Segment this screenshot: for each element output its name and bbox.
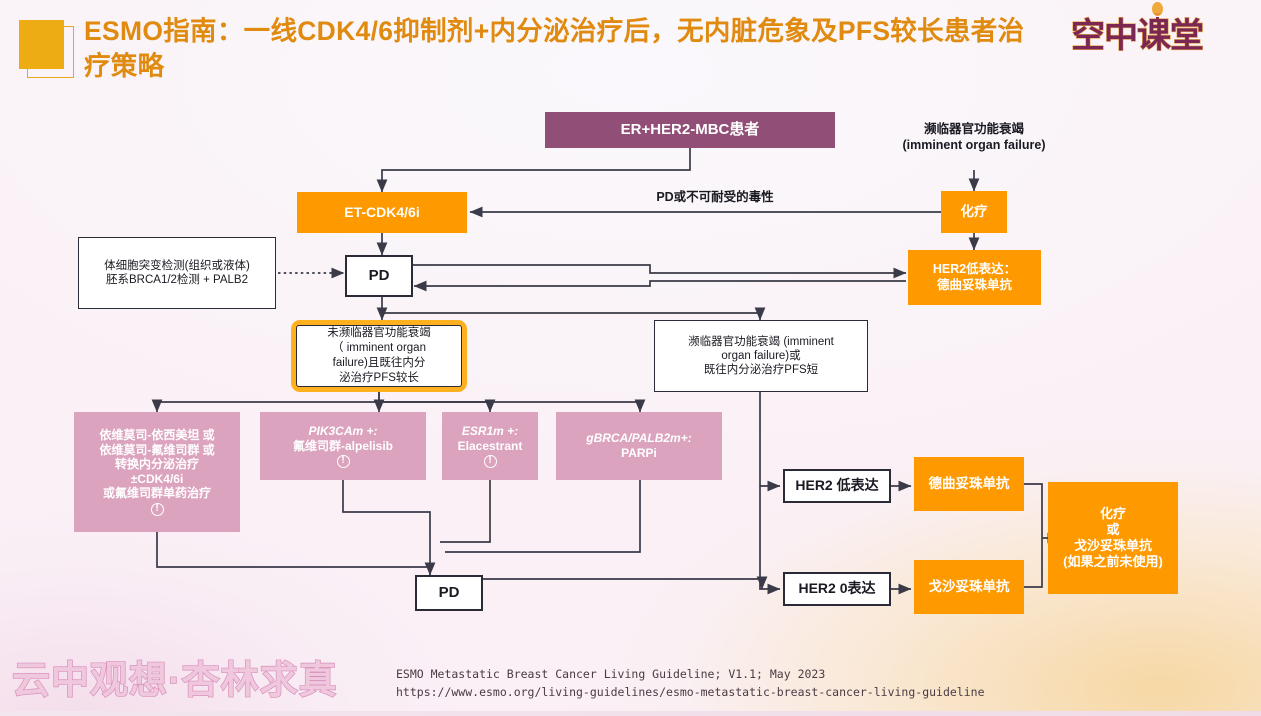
warning-icon (151, 503, 164, 516)
node-pd-bottom[interactable]: PD (415, 575, 483, 611)
decor-square-fill (19, 20, 64, 69)
node-option-esr1[interactable]: ESR1m +: Elacestrant (442, 412, 538, 480)
hot-air-balloon-icon (1151, 2, 1164, 22)
edge-label-imminent-organ-failure: 濒临器官功能衰竭 (imminent organ failure) (858, 122, 1090, 153)
node-branch-long-pfs-inner: 未濒临器官功能衰竭 （ imminent organ failure)且既往内分… (296, 325, 462, 387)
citation-line-2: https://www.esmo.org/living-guidelines/e… (396, 684, 985, 702)
warning-icon (484, 455, 497, 468)
citation: ESMO Metastatic Breast Cancer Living Gui… (396, 666, 985, 702)
node-her2-zero[interactable]: HER2 0表达 (783, 572, 891, 606)
node-option-pik3ca[interactable]: PIK3CAm +: 氟维司群-alpelisib (260, 412, 426, 480)
node-option-everolimus[interactable]: 依维莫司-依西美坦 或 依维莫司-氟维司群 或 转换内分泌治疗 ±CDK4/6i… (74, 412, 240, 532)
warning-icon (337, 455, 350, 468)
node-her2-low-tdxd-top[interactable]: HER2低表达： 德曲妥珠单抗 (908, 250, 1041, 305)
node-pd-mid[interactable]: PD (345, 255, 413, 297)
slide-header: ESMO指南：一线CDK4/6抑制剂+内分泌治疗后，无内脏危象及PFS较长患者治… (0, 0, 1261, 92)
node-chemo-top[interactable]: 化疗 (941, 191, 1007, 233)
node-root[interactable]: ER+HER2-MBC患者 (545, 112, 835, 148)
node-branch-short-pfs[interactable]: 濒临器官功能衰竭 (imminent organ failure)或 既往内分泌… (654, 320, 868, 392)
watermark-text: 云中观想·杏林求真 (12, 649, 338, 704)
node-option-gbrca-parpi[interactable]: gBRCA/PALB2m+: PARPi (556, 412, 722, 480)
node-et-cdk46i[interactable]: ET-CDK4/6i (297, 192, 467, 233)
edge-label-pd-or-toxicity: PD或不可耐受的毒性 (570, 190, 860, 206)
node-branch-long-pfs[interactable]: 未濒临器官功能衰竭 （ imminent organ failure)且既往内分… (291, 320, 467, 392)
node-mutation-testing[interactable]: 体细胞突变检测(组织或液体) 胚系BRCA1/2检测 + PALB2 (78, 237, 276, 309)
node-sacituzumab-govitecan[interactable]: 戈沙妥珠单抗 (914, 560, 1024, 614)
node-her2-low[interactable]: HER2 低表达 (783, 469, 891, 503)
brand-logo: 空中课堂 (1065, 4, 1255, 66)
node-trastuzumab-deruxtecan[interactable]: 德曲妥珠单抗 (914, 457, 1024, 511)
node-final-chemo-or-sg[interactable]: 化疗 或 戈沙妥珠单抗 (如果之前未使用) (1048, 482, 1178, 594)
treatment-flowchart: ER+HER2-MBC患者 濒临器官功能衰竭 (imminent organ f… (0, 92, 1261, 652)
footer-bar (0, 711, 1261, 716)
page-title: ESMO指南：一线CDK4/6抑制剂+内分泌治疗后，无内脏危象及PFS较长患者治… (84, 14, 1034, 84)
slide-footer: 云中观想·杏林求真 ESMO Metastatic Breast Cancer … (0, 646, 1261, 716)
citation-line-1: ESMO Metastatic Breast Cancer Living Gui… (396, 666, 985, 684)
brand-logo-text: 空中课堂 (1071, 8, 1203, 57)
